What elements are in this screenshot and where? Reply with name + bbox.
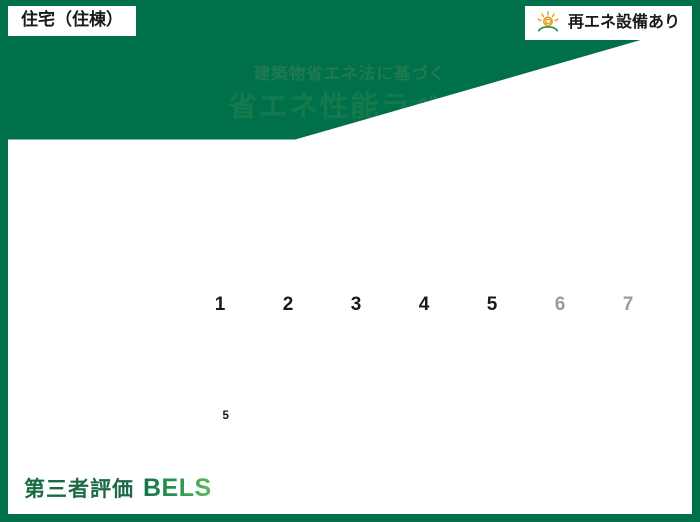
renewable-equipment-badge: 再エネ設備あり: [525, 6, 692, 40]
grade-value: 2: [283, 295, 294, 319]
renewable-badge-label: 再エネ設備あり: [568, 14, 680, 32]
label-footer: 第三者評価 BELS セレノアール A棟 評価日 2025年7月11日 39f2…: [0, 462, 700, 522]
evaluation-date: 評価日 2025年7月11日: [525, 472, 686, 494]
mini-grade-value: 5: [214, 411, 237, 423]
grade-value: 1: [215, 295, 226, 319]
evaluation-id: 39f27cfc-07ac-4ae8: [590, 499, 686, 511]
solar-sun-icon: [535, 10, 561, 36]
bels-jp-text: 第三者評価: [24, 473, 134, 503]
bels-logo: 第三者評価 BELS: [14, 469, 222, 508]
building-name: セレノアール A棟: [231, 482, 358, 504]
building-type-tag: 住宅（住棟）: [8, 6, 136, 36]
grade-value: 6: [555, 295, 566, 319]
grade-value: 4: [419, 295, 430, 319]
bels-en-text: BELS: [143, 474, 212, 503]
grade-value: 7: [623, 295, 634, 319]
grade-value: 3: [351, 295, 362, 319]
energy-performance-label: 住宅（住棟） 再エネ設備あり 建築物省エネ法に基づく 省エネ性能ラベル: [0, 0, 700, 522]
grade-value: 5: [487, 295, 498, 319]
